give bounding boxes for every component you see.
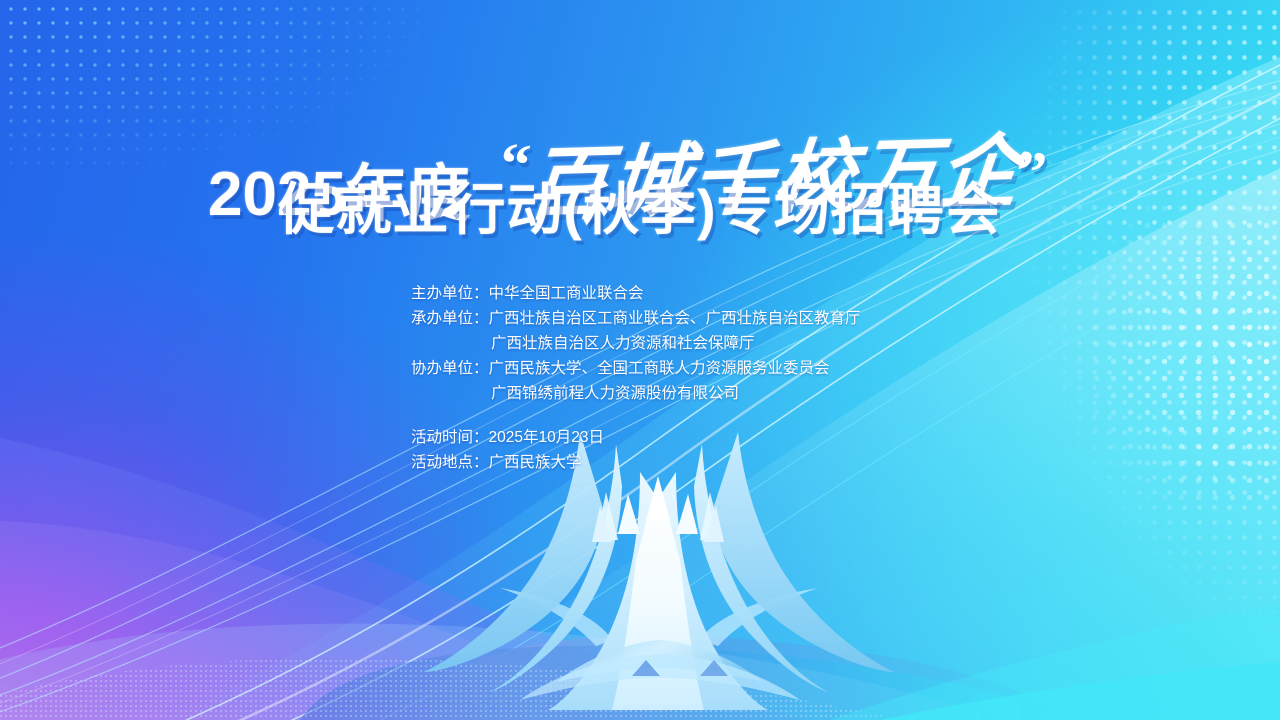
info-row-place: 活动地点：广西民族大学 bbox=[411, 450, 971, 475]
host-label: 承办单位： bbox=[411, 310, 489, 327]
organizer-label: 主办单位： bbox=[411, 285, 489, 302]
time-value: 2025年10月23日 bbox=[489, 429, 604, 446]
info-row-time: 活动时间：2025年10月23日 bbox=[411, 425, 971, 450]
info-spacer bbox=[411, 406, 971, 425]
title-line-1: 2025年度 “ 百城千校万企 ” bbox=[0, 78, 1280, 170]
event-info-block: 主办单位：中华全国工商业联合会 承办单位：广西壮族自治区工商业联合会、广西壮族自… bbox=[411, 281, 971, 475]
cohost-value-line1: 广西民族大学、全国工商联人力资源服务业委员会 bbox=[489, 360, 830, 377]
place-value: 广西民族大学 bbox=[489, 454, 582, 471]
info-row-cohost: 协办单位：广西民族大学、全国工商联人力资源服务业委员会 bbox=[411, 356, 971, 381]
time-label: 活动时间： bbox=[411, 429, 489, 446]
info-row-organizer: 主办单位：中华全国工商业联合会 bbox=[411, 281, 971, 306]
info-row-cohost-cont: 广西锦绣前程人力资源股份有限公司 bbox=[411, 381, 971, 406]
halftone-dots-right-dense bbox=[986, 200, 1280, 500]
host-value-line1: 广西壮族自治区工商业联合会、广西壮族自治区教育厅 bbox=[489, 310, 861, 327]
info-row-host-cont: 广西壮族自治区人力资源和社会保障厅 bbox=[411, 331, 971, 356]
place-label: 活动地点： bbox=[411, 454, 489, 471]
poster-canvas: 2025年度 “ 百城千校万企 ” 促就业行动(秋季)专场招聘会 主办单位：中华… bbox=[0, 0, 1280, 720]
cohost-value-line2: 广西锦绣前程人力资源股份有限公司 bbox=[491, 385, 739, 402]
cohost-label: 协办单位： bbox=[411, 360, 489, 377]
organizer-value: 中华全国工商业联合会 bbox=[489, 285, 644, 302]
title-subtitle: 促就业行动(秋季)专场招聘会 bbox=[0, 178, 1280, 242]
host-value-line2: 广西壮族自治区人力资源和社会保障厅 bbox=[491, 335, 755, 352]
info-row-host: 承办单位：广西壮族自治区工商业联合会、广西壮族自治区教育厅 bbox=[411, 306, 971, 331]
